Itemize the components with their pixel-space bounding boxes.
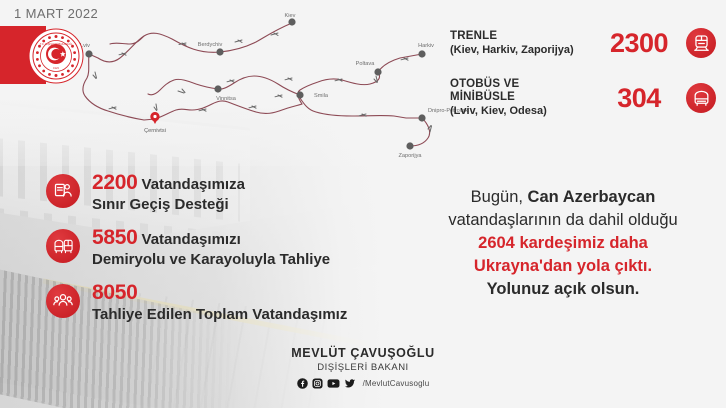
twitter-icon[interactable] bbox=[344, 378, 356, 389]
youtube-icon[interactable] bbox=[327, 378, 340, 389]
message-line-1-prefix: Bugün, bbox=[471, 188, 528, 206]
message-line-5: Yolunuz açık olsun. bbox=[404, 278, 722, 301]
stat-row-bus: OTOBÜS VE MİNİBÜSLE (Lviv, Kiev, Odesa) … bbox=[450, 78, 716, 118]
facebook-icon[interactable] bbox=[297, 378, 308, 389]
svg-text:Kiev: Kiev bbox=[285, 13, 296, 19]
stat-border-crossing-text: 2200Vatandaşımıza Sınır Geçiş Desteği bbox=[92, 172, 245, 214]
passport-check-icon bbox=[46, 174, 80, 208]
bus-icon bbox=[686, 83, 716, 113]
stat-evacuation-transport-value: 5850 bbox=[92, 226, 138, 249]
instagram-icon[interactable] bbox=[312, 378, 323, 389]
message-line-1: Bugün, Can Azerbaycan bbox=[404, 186, 722, 209]
message-count-value: 2604 bbox=[478, 234, 515, 252]
svg-text:Harkiv: Harkiv bbox=[418, 43, 434, 49]
stat-border-crossing: 2200Vatandaşımıza Sınır Geçiş Desteği bbox=[46, 172, 347, 214]
footer-signature: MEVLÜT ÇAVUŞOĞLU DIŞİŞLERİ BAKANI /Mevlu… bbox=[0, 346, 726, 389]
stat-evacuation-transport: 5850Vatandaşımızı Demiryolu ve Karayoluy… bbox=[46, 227, 347, 269]
minister-title: DIŞİŞLERİ BAKANI bbox=[0, 362, 726, 373]
svg-text:Smila: Smila bbox=[314, 93, 329, 99]
map-destination-pin bbox=[150, 112, 159, 124]
stat-border-crossing-value: 2200 bbox=[92, 171, 138, 194]
svg-text:1923: 1923 bbox=[53, 66, 59, 70]
stat-total-evacuated-value: 8050 bbox=[92, 281, 138, 304]
stat-bus-cities: (Lviv, Kiev, Odesa) bbox=[450, 104, 600, 118]
minister-name: MEVLÜT ÇAVUŞOĞLU bbox=[0, 346, 726, 360]
stat-train-label: TRENLE bbox=[450, 30, 600, 43]
stat-train-value: 2300 bbox=[600, 29, 678, 57]
stat-bus-value: 304 bbox=[600, 84, 678, 112]
bus-train-icon bbox=[46, 229, 80, 263]
date-label: 1 MART 2022 bbox=[14, 6, 98, 21]
map-city-labels: Kiev Berdychiv Lviv Vinnitsa Smila Polta… bbox=[80, 13, 468, 159]
stat-total-evacuated: 8050 Tahliye Edilen Toplam Vatandaşımız bbox=[46, 282, 347, 324]
stat-evacuation-transport-text: 5850Vatandaşımızı Demiryolu ve Karayoluy… bbox=[92, 227, 330, 269]
train-icon bbox=[686, 28, 716, 58]
stat-evacuation-transport-word: Vatandaşımızı bbox=[142, 231, 241, 248]
stat-border-crossing-desc: Sınır Geçiş Desteği bbox=[92, 195, 245, 214]
stat-row-train: TRENLE (Kiev, Harkiv, Zaporijya) 2300 bbox=[450, 28, 716, 58]
stat-train-text: TRENLE (Kiev, Harkiv, Zaporijya) bbox=[450, 30, 600, 57]
message-line-4: Ukrayna'dan yola çıktı. bbox=[404, 255, 722, 278]
turkish-foreign-ministry-emblem: T.C. DIŞİŞLERİ BAKANLIĞI 1923 bbox=[28, 28, 84, 84]
message-line-1-highlight: Can Azerbaycan bbox=[528, 188, 656, 206]
social-links: /MevlutCavusoglu bbox=[0, 378, 726, 389]
message-line-3-rest: kardeşimiz daha bbox=[515, 234, 648, 252]
stat-train-cities: (Kiev, Harkiv, Zaporijya) bbox=[450, 43, 600, 57]
stat-evacuation-transport-desc: Demiryolu ve Karayoluyla Tahliye bbox=[92, 250, 330, 269]
map-city-dots bbox=[85, 18, 425, 149]
message-line-2: vatandaşlarının da dahil olduğu bbox=[404, 209, 722, 232]
message-line-3: 2604 kardeşimiz daha bbox=[404, 232, 722, 255]
stat-total-evacuated-desc: Tahliye Edilen Toplam Vatandaşımız bbox=[92, 305, 347, 324]
announcement-message: Bugün, Can Azerbaycan vatandaşlarının da… bbox=[404, 186, 722, 301]
social-handle[interactable]: /MevlutCavusoglu bbox=[363, 379, 430, 388]
evacuation-route-map: Kiev Berdychiv Lviv Vinnitsa Smila Polta… bbox=[60, 6, 490, 166]
svg-text:Poltava: Poltava bbox=[356, 61, 376, 67]
stat-bus-text: OTOBÜS VE MİNİBÜSLE (Lviv, Kiev, Odesa) bbox=[450, 78, 600, 118]
svg-text:Çernivtsi: Çernivtsi bbox=[144, 128, 166, 134]
infographic-canvas: 1 MART 2022 T.C. DIŞİŞLERİ BAKANLIĞI bbox=[0, 0, 726, 408]
stat-bus-label2: MİNİBÜSLE bbox=[450, 91, 600, 104]
stat-total-evacuated-text: 8050 Tahliye Edilen Toplam Vatandaşımız bbox=[92, 282, 347, 324]
svg-text:Berdychiv: Berdychiv bbox=[198, 42, 223, 48]
stat-bus-label: OTOBÜS VE bbox=[450, 78, 600, 91]
svg-text:Zaporijya: Zaporijya bbox=[398, 153, 422, 159]
svg-text:Vinnitsa: Vinnitsa bbox=[216, 96, 237, 102]
people-group-icon bbox=[46, 284, 80, 318]
left-statistics-list: 2200Vatandaşımıza Sınır Geçiş Desteği bbox=[46, 172, 347, 337]
stat-border-crossing-word: Vatandaşımıza bbox=[142, 176, 245, 193]
